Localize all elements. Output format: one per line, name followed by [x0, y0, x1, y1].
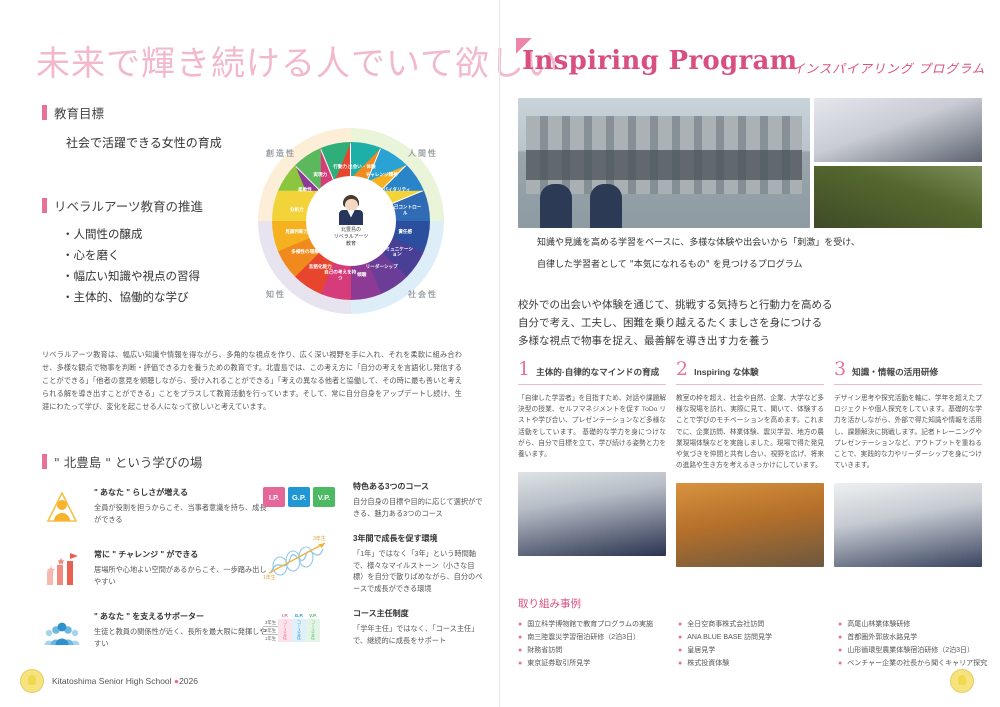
lead-line-2: 自分で考え、工夫し、困難を乗り越えるたくましさを身につける — [518, 314, 832, 332]
chip-gp: G.P. — [288, 487, 310, 507]
column-number: 2 — [676, 360, 688, 379]
photo-classroom-students — [814, 98, 982, 162]
footer-text: Kitatoshima Senior High School ●2026 — [52, 676, 198, 686]
column-title: Inspiring な体験 — [694, 366, 758, 378]
liberal-arts-list: ・人間性の醸成 ・心を磨く ・幅広い知識や視点の習得 ・主体的、協働的な学び — [62, 224, 200, 308]
student-avatar-icon — [338, 195, 364, 225]
case-item: ●東京証券取引所見学 — [518, 657, 668, 670]
growth-spiral-icon: 1年生 3年生 — [263, 533, 341, 594]
feature-title: " あなた " を支えるサポーター — [94, 611, 267, 622]
top-photo-collage — [518, 98, 982, 228]
wheel-quadrant-label-humanity: 人間性 — [408, 148, 438, 159]
wheel-segment-label: 責任感 — [388, 229, 422, 235]
list-item: I.P. G.P. V.P. 特色ある3つのコース 自分自身の目標や目的に応じて… — [263, 481, 485, 519]
case-item-label: 国立科学博物館で教育プログラムの実施 — [527, 618, 653, 631]
course-title: コース主任制度 — [353, 608, 485, 619]
wheel-hub-line-2: リベラルアーツ — [334, 234, 369, 241]
case-item: ●南三陸震災学習宿泊研修（2泊3日） — [518, 631, 668, 644]
list-item: " あなた " らしさが増える 全員が役割を担うからこそ、当事者意識を持ち、成長… — [42, 487, 267, 527]
case-item-label: 全日空商事株式会社訪問 — [687, 618, 764, 631]
case-item-label: 首都圏外郭放水路見学 — [847, 631, 917, 644]
case-item: ●皇居見学 — [678, 644, 828, 657]
photo-forestry-work — [814, 166, 982, 228]
column-title: 主体的·自律的なマインドの育成 — [536, 366, 659, 378]
bullet-dot-icon: ● — [518, 618, 522, 631]
brochure-spread: 未来で輝き続ける人でいて欲しい 教育目標 社会で活躍できる女性の育成 リベラルア… — [0, 0, 1000, 707]
case-item-label: 東京証券取引所見学 — [527, 657, 590, 670]
grid-year-2: 2年生 — [263, 627, 278, 635]
column-title: 知識・情報の活用研修 — [852, 366, 938, 378]
photo-column-3 — [834, 483, 982, 567]
program-column-2: 2 Inspiring な体験 教室の枠を超え、社会や自然、企業、大学など多様な… — [676, 360, 824, 567]
bullet-dot-icon: ● — [838, 657, 842, 670]
column-header: 2 Inspiring な体験 — [676, 360, 824, 385]
bullet-dot-icon: ● — [838, 631, 842, 644]
svg-text:3年生: 3年生 — [313, 535, 326, 542]
feature-desc: 全員が役割を担うからこそ、当事者意識を持ち、成長ができる — [94, 502, 267, 525]
lead-line-1: 校外での出会いや体験を通じて、挑戦する気持ちと行動力を高める — [518, 296, 832, 314]
column-number: 3 — [834, 360, 846, 379]
course-desc: 「1年」ではなく「3年」という時間軸で、様々なマイルストーン（小さな目標）を自分… — [353, 548, 485, 594]
bullet-dot-icon: ● — [678, 618, 682, 631]
case-item-label: 皇居見学 — [687, 644, 715, 657]
liberal-arts-label: リベラルアーツ教育の推進 — [54, 196, 203, 215]
column-body: デザイン思考や探究活動を軸に、学年を超えたプロジェクトや個人探究をしています。基… — [834, 393, 982, 471]
list-item: ・幅広い知識や視点の習得 — [62, 266, 200, 287]
wheel-hub: 北豊島の リベラルアーツ 教育 — [308, 178, 394, 264]
case-item: ●ベンチャー企業の社長から聞くキャリア探究 — [838, 657, 988, 670]
column-number: 1 — [518, 360, 530, 379]
list-item: ・心を磨く — [62, 245, 200, 266]
program-column-1: 1 主体的·自律的なマインドの育成 「自律した学習者」を目指すため、対話や課題解… — [518, 360, 666, 567]
grid-cell-vp: コース主任 — [310, 620, 316, 640]
education-goal-text: 社会で活躍できる女性の育成 — [66, 134, 222, 151]
chip-ip: I.P. — [263, 487, 285, 507]
cases-grid: ●国立科学博物館で教育プログラムの実施●南三陸震災学習宿泊研修（2泊3日）●財務… — [518, 618, 988, 670]
photo-disaster-site — [518, 98, 810, 228]
program-lead: 校外での出会いや体験を通じて、挑戦する気持ちと行動力を高める 自分で考え、工夫し… — [518, 296, 832, 350]
case-item: ●首都圏外郭放水路見学 — [838, 631, 988, 644]
grid-col-vp: V.P. — [306, 612, 320, 619]
liberal-arts-paragraph: リベラルアーツ教育は、幅広い知識や情報を得ながら、多角的な視点を作り、広く深い視… — [42, 348, 462, 413]
grid-col-ip: I.P. — [278, 612, 292, 619]
wheel-segment-label: 言語化能力 — [303, 264, 337, 270]
case-item-label: 山形循環型農業体験宿泊研修（2泊3日） — [847, 644, 974, 657]
course-features-list: I.P. G.P. V.P. 特色ある3つのコース 自分自身の目標や目的に応じて… — [263, 481, 485, 660]
wheel-segment-label: 自己の考えを持つ — [323, 270, 357, 281]
photo-column-2 — [676, 483, 824, 567]
wheel-quadrant-label-intellect: 知性 — [266, 289, 286, 300]
bullet-dot-icon: ● — [838, 618, 842, 631]
case-item: ●高尾山林業体験研修 — [838, 618, 988, 631]
case-item: ●山形循環型農業体験宿泊研修（2泊3日） — [838, 644, 988, 657]
feature-title: " あなた " らしさが増える — [94, 487, 267, 498]
school-mascot-icon — [20, 669, 44, 693]
column-body: 教室の枠を超え、社会や自然、企業、大学など多様な現場を訪れ、実際に見て、聞いて、… — [676, 393, 824, 471]
list-item: " あなた " を支えるサポーター 生徒と教員の関係性が近く、長所を最大限に発揮… — [42, 611, 267, 651]
page-headline: 未来で輝き続ける人でいて欲しい — [36, 36, 476, 85]
list-item: ・人間性の醸成 — [62, 224, 200, 245]
case-item: ●財務省訪問 — [518, 644, 668, 657]
accent-bar — [42, 454, 47, 469]
left-page: 未来で輝き続ける人でいて欲しい 教育目標 社会で活躍できる女性の育成 リベラルア… — [0, 0, 500, 707]
bullet-dot-icon: ● — [678, 657, 682, 670]
program-title: Inspiring Program — [522, 46, 797, 76]
bullet-dot-icon: ● — [518, 631, 522, 644]
case-item: ●全日空商事株式会社訪問 — [678, 618, 828, 631]
case-item-label: ベンチャー企業の社長から聞くキャリア探究 — [847, 657, 987, 670]
grid-year-3: 3年生 — [263, 619, 278, 627]
course-chips-icon: I.P. G.P. V.P. — [263, 481, 341, 519]
grid-cell-gp: コース主任 — [296, 620, 302, 640]
bullet-dot-icon: ● — [678, 631, 682, 644]
list-item: 常に " チャレンジ " ができる 居場所や心地よい空間があるからこそ、一歩踏み… — [42, 549, 267, 589]
feature-desc: 生徒と教員の関係性が近く、長所を最大限に発揮しやすい — [94, 626, 267, 649]
program-column-3: 3 知識・情報の活用研修 デザイン思考や探究活動を軸に、学年を超えたプロジェクト… — [834, 360, 982, 567]
bullet-dot-icon: ● — [838, 644, 842, 657]
feature-title: 常に " チャレンジ " ができる — [94, 549, 267, 560]
learning-place-label: " 北豊島 " という学びの場 — [54, 452, 202, 471]
wheel-segment-label: 実現力 — [303, 172, 337, 178]
program-subtitle: インスパイアリング プログラム — [792, 58, 985, 77]
list-item: I.P. G.P. V.P. 3年生 コース主任 コース主任 コース主任 2年生 — [263, 608, 485, 646]
case-item: ●国立科学博物館で教育プログラムの実施 — [518, 618, 668, 631]
case-item: ●ANA BLUE BASE 訪問見学 — [678, 631, 828, 644]
bullet-dot-icon: ● — [678, 644, 682, 657]
caption-line-1: 知識や見識を高める学習をベースに、多様な体験や出会いから「刺激」を受け、 — [530, 233, 867, 250]
program-caption: 知識や見識を高める学習をベースに、多様な体験や出会いから「刺激」を受け、 自律し… — [530, 232, 867, 276]
svg-text:1年生: 1年生 — [263, 574, 276, 581]
cases-column: ●全日空商事株式会社訪問●ANA BLUE BASE 訪問見学●皇居見学●株式投… — [678, 618, 828, 670]
liberal-arts-heading: リベラルアーツ教育の推進 — [42, 196, 203, 215]
spotlight-person-icon — [42, 487, 82, 527]
column-header: 1 主体的·自律的なマインドの育成 — [518, 360, 666, 385]
wheel-segment-label: チャレンジ精神 — [365, 172, 399, 178]
footer-school-name: Kitatoshima Senior High School — [52, 676, 172, 686]
grid-cell-ip: コース主任 — [282, 620, 288, 640]
course-desc: 「学年主任」ではなく、「コース主任」で、継続的に成長をサポート — [353, 623, 485, 646]
list-item: 1年生 3年生 3年間で成長を促す環境 「1年」ではなく「3年」という時間軸で、… — [263, 533, 485, 594]
accent-bar — [42, 198, 47, 213]
education-goal-label: 教育目標 — [54, 103, 104, 122]
lead-line-3: 多様な視点で物事を捉え、最善解を導き出す力を養う — [518, 332, 832, 350]
wheel-segment-label: 柔軟性 — [288, 187, 322, 193]
wheel-segment-label: 多様性の理解 — [288, 249, 322, 255]
cases-column: ●国立科学博物館で教育プログラムの実施●南三陸震災学習宿泊研修（2泊3日）●財務… — [518, 618, 668, 670]
case-item: ●株式投資体験 — [678, 657, 828, 670]
case-item-label: 株式投資体験 — [687, 657, 729, 670]
bullet-dot-icon: ● — [518, 657, 522, 670]
photo-column-1 — [518, 472, 666, 556]
case-item-label: ANA BLUE BASE 訪問見学 — [687, 631, 772, 644]
wheel-segment-label: バイタリティ — [380, 187, 414, 193]
wheel-hub-line-3: 教育 — [346, 241, 356, 248]
course-desc: 自分自身の目標や目的に応じて選択ができる、魅力ある3つのコース — [353, 496, 485, 519]
case-item-label: 高尾山林業体験研修 — [847, 618, 910, 631]
cases-column: ●高尾山林業体験研修●首都圏外郭放水路見学●山形循環型農業体験宿泊研修（2泊3日… — [838, 618, 988, 670]
liberal-arts-wheel-diagram: 人間性 社会性 知性 創造性 出会い・体験チャレンジ精神バイタリティ自己コントロ… — [258, 128, 444, 314]
learning-features-list: " あなた " らしさが増える 全員が役割を担うからこそ、当事者意識を持ち、成長… — [42, 487, 267, 673]
wheel-quadrant-label-creativity: 創造性 — [266, 148, 296, 159]
school-mascot-icon — [950, 669, 974, 693]
accent-bar — [42, 105, 47, 120]
wheel-segment-label: コミュニケーション — [380, 246, 414, 257]
course-title: 3年間で成長を促す環境 — [353, 533, 485, 544]
learning-place-heading: " 北豊島 " という学びの場 — [42, 452, 202, 471]
footer-year: 2026 — [179, 676, 198, 686]
education-goal-heading: 教育目標 — [42, 103, 104, 122]
page-footer: Kitatoshima Senior High School ●2026 — [20, 669, 198, 693]
list-item: ・主体的、協働的な学び — [62, 287, 200, 308]
course-title: 特色ある3つのコース — [353, 481, 485, 492]
case-item-label: 財務省訪問 — [527, 644, 562, 657]
cases-section: 取り組み事例 ●国立科学博物館で教育プログラムの実施●南三陸震災学習宿泊研修（2… — [518, 596, 988, 670]
bullet-dot-icon: ● — [518, 644, 522, 657]
grid-year-1: 1年生 — [263, 635, 278, 643]
wheel-segment-label: リーダーシップ — [365, 264, 399, 270]
right-page: Inspiring Program インスパイアリング プログラム 知識や見識を… — [500, 0, 1000, 707]
cases-heading: 取り組み事例 — [518, 596, 988, 611]
program-columns: 1 主体的·自律的なマインドの育成 「自律した学習者」を目指すため、対話や課題解… — [518, 360, 982, 567]
feature-desc: 居場所や心地よい空間があるからこそ、一歩踏み出しやすい — [94, 564, 267, 587]
bar-chart-flag-icon — [42, 549, 82, 589]
wheel-hub-line-1: 北豊島の — [341, 227, 361, 234]
course-master-grid-icon: I.P. G.P. V.P. 3年生 コース主任 コース主任 コース主任 2年生 — [263, 608, 341, 646]
case-item-label: 南三陸震災学習宿泊研修（2泊3日） — [527, 631, 640, 644]
column-body: 「自律した学習者」を目指すため、対話や課題解決型の授業、セルフマネジメントを促す… — [518, 393, 666, 460]
wheel-quadrant-label-sociality: 社会性 — [408, 289, 438, 300]
chip-vp: V.P. — [313, 487, 335, 507]
wheel-segment-label: 行動力 — [323, 164, 357, 170]
grid-col-gp: G.P. — [292, 612, 306, 619]
caption-line-2: 自律した学習者として "本気になれるもの" を見つけるプログラム — [530, 255, 809, 272]
column-header: 3 知識・情報の活用研修 — [834, 360, 982, 385]
people-group-icon — [42, 611, 82, 651]
